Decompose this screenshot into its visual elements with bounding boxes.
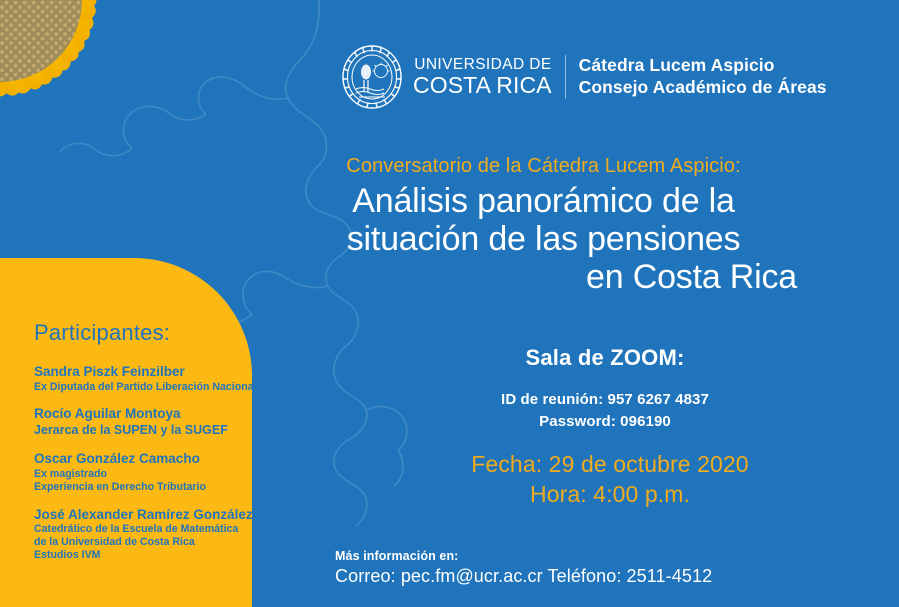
event-title-block: Conversatorio de la Cátedra Lucem Aspici… — [276, 155, 811, 296]
poster-canvas: UNIVERSIDAD DE COSTA RICA Cátedra Lucem … — [0, 0, 899, 607]
participant-name: Oscar González Camacho — [34, 451, 252, 467]
ucr-wordmark: UNIVERSIDAD DE COSTA RICA — [413, 57, 552, 98]
ucr-wordmark-line2: COSTA RICA — [413, 74, 552, 97]
participant-item: José Alexander Ramírez González Catedrát… — [34, 507, 252, 562]
schedule-block: Fecha: 29 de octubre 2020 Hora: 4:00 p.m… — [420, 450, 800, 510]
participant-role: Jerarca de la SUPEN y la SUGEF — [34, 423, 252, 438]
contact-details: Correo: pec.fm@ucr.ac.cr Teléfono: 2511-… — [335, 566, 712, 587]
participant-item: Rocío Aguilar Montoya Jerarca de la SUPE… — [34, 406, 252, 438]
contact-footer: Más información en: Correo: pec.fm@ucr.a… — [335, 549, 712, 587]
catedra-line1: Cátedra Lucem Aspicio — [579, 55, 827, 77]
zoom-meeting-id: ID de reunión: 957 6267 4837 — [420, 389, 790, 411]
zoom-password: Password: 096190 — [420, 411, 790, 433]
participant-role: de la Universidad de Costa Rica — [34, 536, 252, 549]
event-title-line3: en Costa Rica — [276, 258, 811, 296]
participants-content: Participantes: Sandra Piszk Feinzilber E… — [34, 320, 252, 575]
participant-name: José Alexander Ramírez González — [34, 507, 252, 523]
participant-role: Ex magistrado — [34, 468, 252, 481]
participants-heading: Participantes: — [34, 320, 252, 346]
header-divider — [565, 55, 566, 99]
event-title-line2: situación de las pensiones — [276, 220, 811, 258]
participants-panel: Participantes: Sandra Piszk Feinzilber E… — [0, 258, 252, 607]
brand-header: UNIVERSIDAD DE COSTA RICA Cátedra Lucem … — [341, 44, 827, 110]
zoom-room-heading: Sala de ZOOM: — [420, 345, 790, 371]
participant-item: Oscar González Camacho Ex magistrado Exp… — [34, 451, 252, 493]
event-eyebrow: Conversatorio de la Cátedra Lucem Aspici… — [276, 155, 811, 178]
participant-name: Rocío Aguilar Montoya — [34, 406, 252, 422]
event-title-line1: Análisis panorámico de la — [276, 182, 811, 220]
participant-role: Estudios IVM — [34, 549, 252, 562]
ucr-wordmark-line1: UNIVERSIDAD DE — [413, 57, 552, 73]
event-date: Fecha: 29 de octubre 2020 — [420, 450, 800, 480]
participant-item: Sandra Piszk Feinzilber Ex Diputada del … — [34, 364, 252, 393]
sunflower-decoration — [0, 0, 196, 192]
participant-role: Catedrático de la Escuela de Matemática — [34, 523, 252, 536]
participant-role: Ex Diputada del Partido Liberación Nacio… — [34, 381, 252, 394]
participant-name: Sandra Piszk Feinzilber — [34, 364, 252, 380]
ucr-seal-icon — [341, 44, 403, 110]
catedra-title: Cátedra Lucem Aspicio Consejo Académico … — [579, 55, 827, 99]
catedra-line2: Consejo Académico de Áreas — [579, 77, 827, 99]
event-time: Hora: 4:00 p.m. — [420, 480, 800, 510]
participant-role: Experiencia en Derecho Tributario — [34, 481, 252, 494]
event-title: Análisis panorámico de la situación de l… — [276, 182, 811, 296]
contact-label: Más información en: — [335, 549, 712, 563]
zoom-room-block: Sala de ZOOM: ID de reunión: 957 6267 48… — [420, 345, 790, 433]
